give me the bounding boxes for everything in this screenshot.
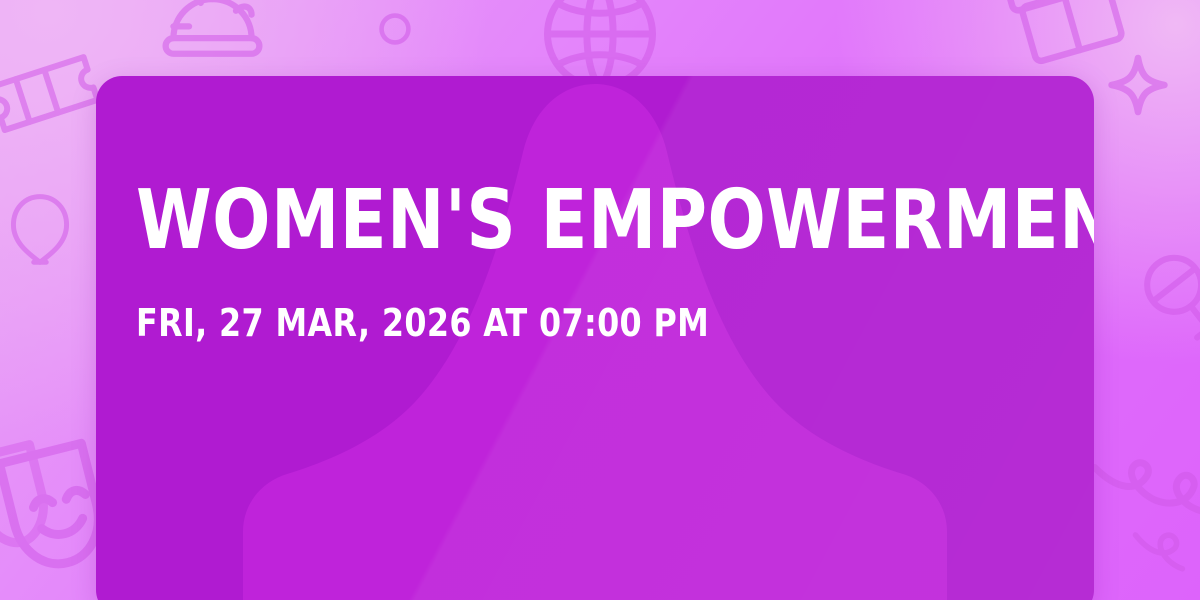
event-card: WOMEN'S EMPOWERMENT GALA FRI, 27 MAR, 20… [96, 76, 1094, 600]
cake-stand-icon [150, 0, 275, 85]
streamer-icon [1090, 430, 1200, 580]
gift-box-icon [1000, 0, 1135, 72]
event-datetime: FRI, 27 MAR, 2026 AT 07:00 PM [136, 304, 990, 342]
page-title: WOMEN'S EMPOWERMENT GALA [136, 180, 990, 262]
confetti-icon [372, 6, 418, 52]
streamer-icon [1128, 520, 1200, 600]
event-banner: WOMEN'S EMPOWERMENT GALA FRI, 27 MAR, 20… [0, 0, 1200, 600]
event-text-block: WOMEN'S EMPOWERMENT GALA FRI, 27 MAR, 20… [136, 180, 1054, 342]
balloon-icon [0, 176, 90, 286]
microphone-icon [1134, 232, 1200, 347]
sparkle-icon [1102, 52, 1174, 124]
ticket-icon [0, 30, 108, 150]
